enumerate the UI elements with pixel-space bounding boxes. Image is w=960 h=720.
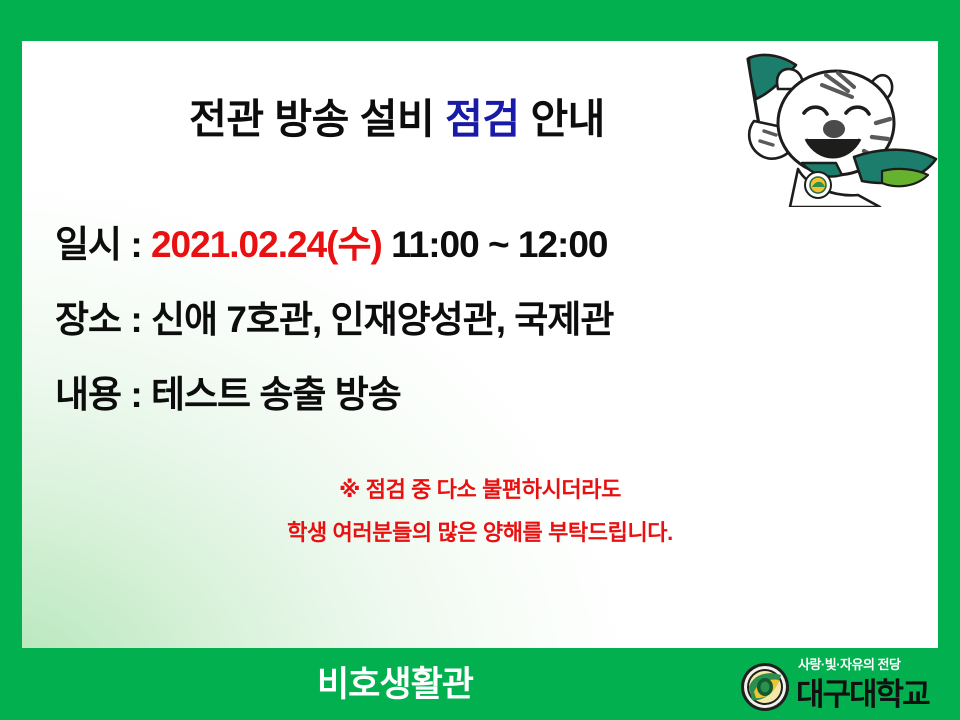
university-logo: 사랑·빛·자유의 전당 대구대학교 [740,654,948,716]
title-text-after: 안내 [520,96,605,142]
page-title: 전관 방송 설비 점검 안내 [22,85,772,145]
detail-line-datetime: 일시 : 2021.02.24(수) 11:00 ~ 12:00 [55,214,608,268]
content-panel: 전관 방송 설비 점검 안내 [22,41,938,648]
footnote-line-2: 학생 여러분들의 많은 양해를 부탁드립니다. [22,512,938,555]
detail-line-location: 장소 : 신애 7호관, 인재양성관, 국제관 [55,289,613,343]
detail-value-content: 테스트 송출 방송 [151,374,401,415]
title-text-before: 전관 방송 설비 [189,96,445,142]
university-name: 대구대학교 [796,669,929,714]
footer-bar: 비호생활관 사랑·빛·자유의 전당 대구대학교 [0,648,960,720]
detail-value-time: 11:00 ~ 12:00 [382,224,608,265]
footnote-line-1: ※ 점검 중 다소 불편하시더라도 [22,469,938,512]
daegu-university-emblem-icon [740,662,790,712]
detail-label-location: 장소 : [55,299,151,340]
notice-footnote: ※ 점검 중 다소 불편하시더라도 학생 여러분들의 많은 양해를 부탁드립니다… [22,469,938,555]
tiger-mascot-icon [730,41,938,207]
detail-line-content: 내용 : 테스트 송출 방송 [55,364,401,418]
detail-label-content: 내용 : [55,374,151,415]
title-highlight-inspection: 점검 [445,96,519,142]
detail-value-location: 신애 7호관, 인재양성관, 국제관 [151,299,613,340]
notice-poster: 전관 방송 설비 점검 안내 [0,0,960,720]
detail-label-datetime: 일시 : [55,224,151,265]
detail-value-date: 2021.02.24(수) [151,224,382,265]
footer-organization-name: 비호생활관 [0,656,790,707]
